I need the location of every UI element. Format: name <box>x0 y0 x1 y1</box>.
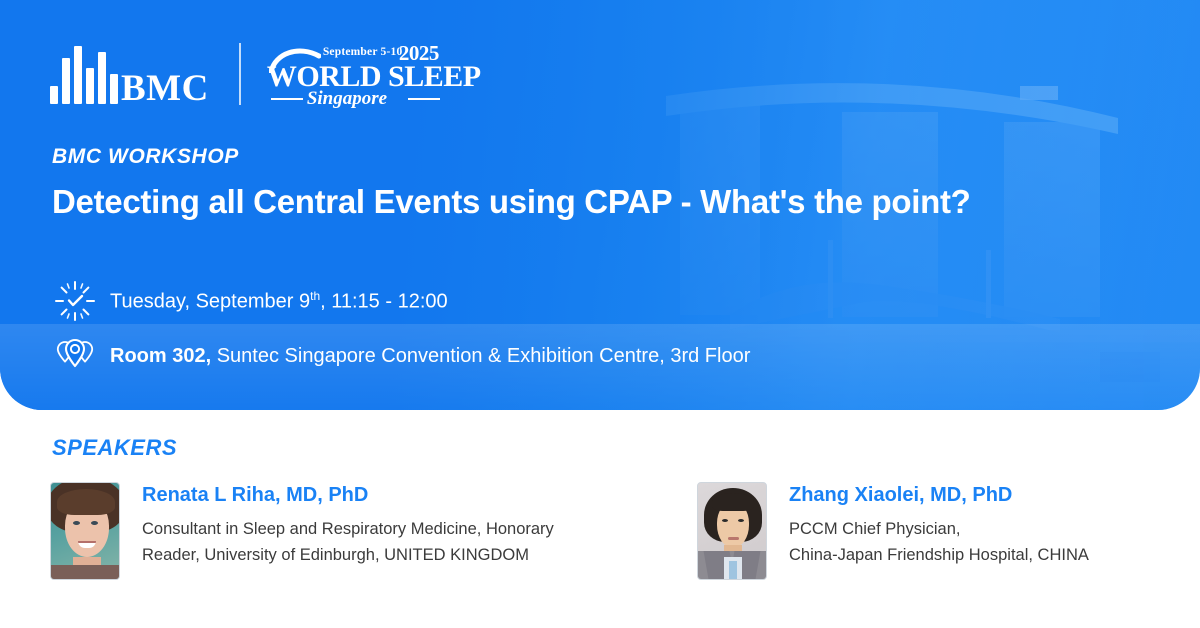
speaker-info-1: Renata L Riha, MD, PhD Consultant in Sle… <box>142 482 554 568</box>
datetime-row: Tuesday, September 9th, 11:15 - 12:00 <box>52 278 448 324</box>
waveform-bars-icon <box>50 46 118 104</box>
speaker-info-2: Zhang Xiaolei, MD, PhD PCCM Chief Physic… <box>789 482 1089 568</box>
event-promo-banner: BMC September 5-10 2025 WORLD SLEEP Sing… <box>0 0 1200 628</box>
day-ordinal: th <box>310 289 320 303</box>
speaker-affiliation-line2: Reader, University of Edinburgh, UNITED … <box>142 543 554 569</box>
speaker-card-1: Renata L Riha, MD, PhD Consultant in Sle… <box>50 482 554 580</box>
speaker-portrait-renata-icon <box>50 482 120 580</box>
speaker-affiliation: PCCM Chief Physician, China-Japan Friend… <box>789 517 1089 568</box>
logo-rule-right <box>408 98 440 100</box>
map-pins-icon <box>52 333 98 379</box>
speaker-card-2: Zhang Xiaolei, MD, PhD PCCM Chief Physic… <box>697 482 1089 580</box>
page-title: Detecting all Central Events using CPAP … <box>52 183 971 221</box>
speaker-name: Renata L Riha, MD, PhD <box>142 484 554 507</box>
bmc-logo-text: BMC <box>121 73 209 104</box>
logo-bar: BMC September 5-10 2025 WORLD SLEEP Sing… <box>50 38 442 110</box>
speaker-portrait-zhang-icon <box>697 482 767 580</box>
speaker-affiliation: Consultant in Sleep and Respiratory Medi… <box>142 517 554 568</box>
datetime-text: Tuesday, September 9th, 11:15 - 12:00 <box>110 289 448 314</box>
speakers-heading: SPEAKERS <box>52 435 177 461</box>
bmc-logo: BMC <box>50 44 209 104</box>
event-time: , 11:15 - 12:00 <box>320 290 448 312</box>
speaker-affiliation-line1: PCCM Chief Physician, <box>789 517 1089 543</box>
event-day: Tuesday, September 9 <box>110 290 310 312</box>
clock-sun-icon <box>52 278 98 324</box>
world-sleep-logo: September 5-10 2025 WORLD SLEEP Singapor… <box>267 40 442 108</box>
location-row: Room 302, Suntec Singapore Convention & … <box>52 333 750 379</box>
workshop-kicker: BMC WORKSHOP <box>52 145 239 169</box>
location-text: Room 302, Suntec Singapore Convention & … <box>110 345 750 368</box>
venue-name: Suntec Singapore Convention & Exhibition… <box>211 345 750 367</box>
vertical-divider-icon <box>239 43 241 105</box>
logo-rule-left <box>271 98 303 100</box>
conference-dates: September 5-10 <box>323 46 403 58</box>
speaker-affiliation-line1: Consultant in Sleep and Respiratory Medi… <box>142 517 554 543</box>
speaker-name: Zhang Xiaolei, MD, PhD <box>789 484 1089 507</box>
room-number: Room 302, <box>110 345 211 367</box>
conference-city: Singapore <box>307 88 387 110</box>
speaker-affiliation-line2: China-Japan Friendship Hospital, CHINA <box>789 543 1089 569</box>
